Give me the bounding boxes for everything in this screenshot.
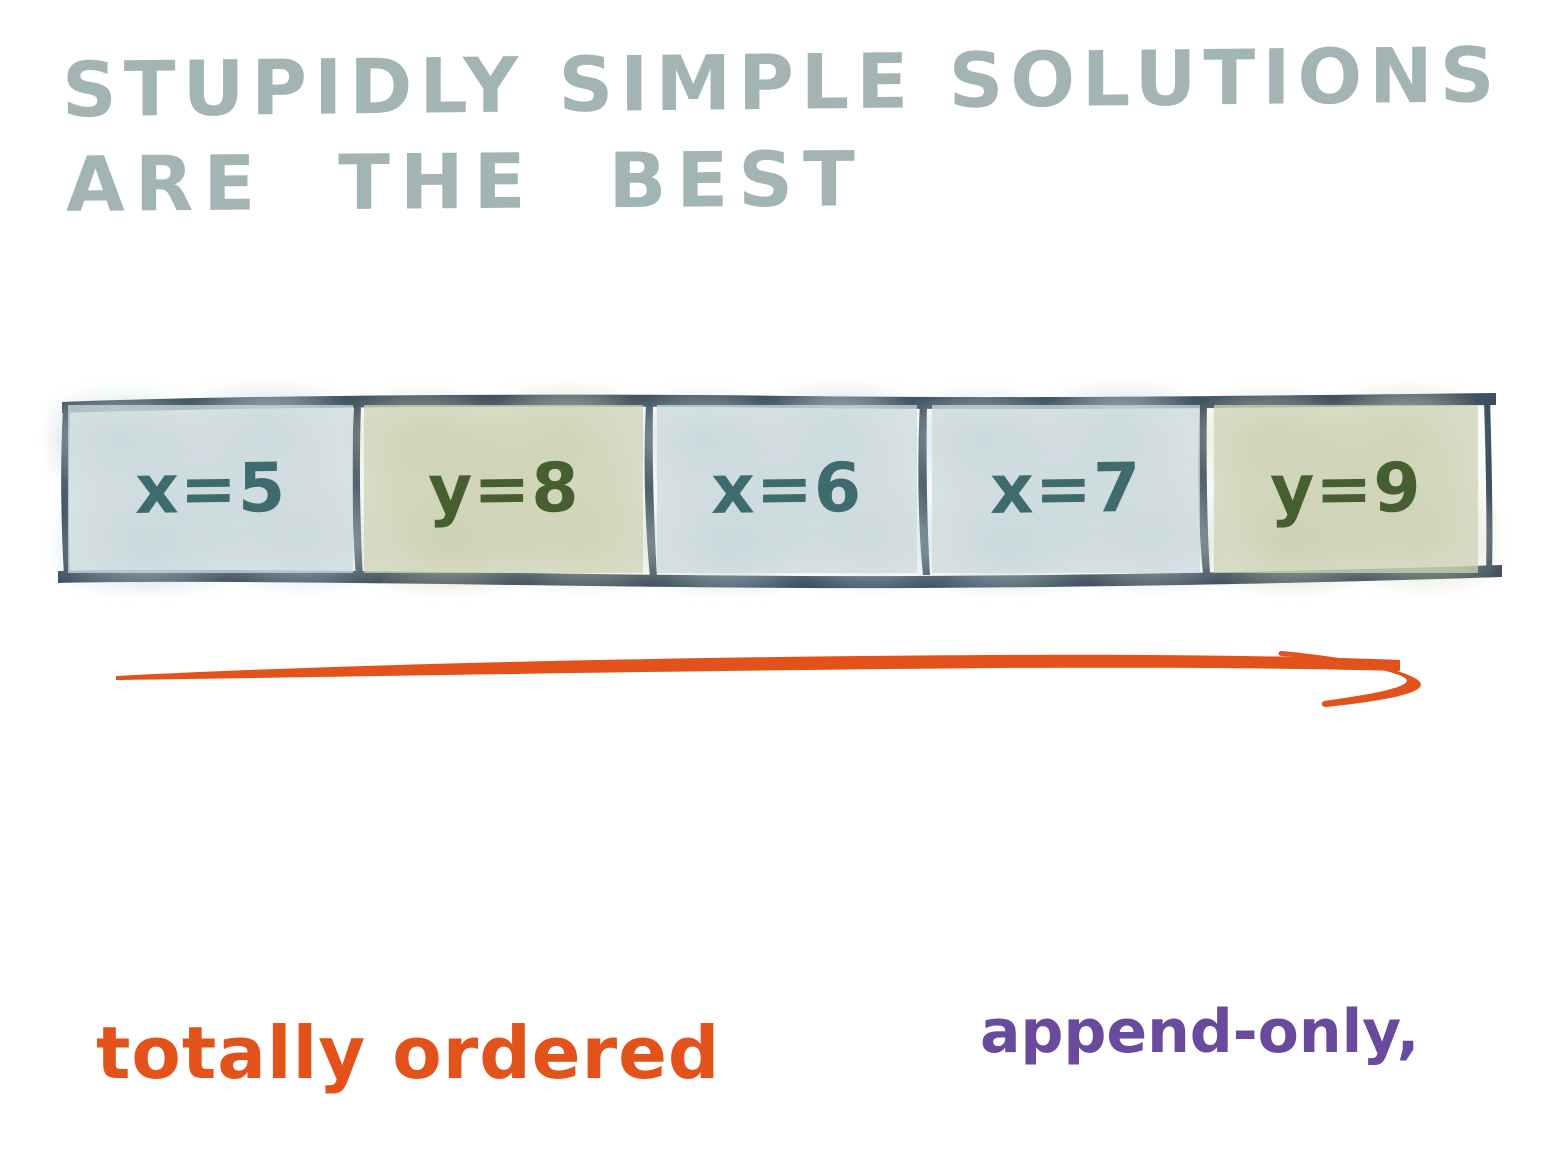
log-cell-label: y=8	[428, 448, 580, 529]
event-log-cells: x=5 y=8 x=6 x=7 y=9	[40, 375, 1520, 600]
title-line-1: STUPIDLY SIMPLE SOLUTIONS	[62, 27, 1462, 139]
log-cell[interactable]: y=9	[1210, 403, 1482, 575]
title-line-2: ARE THE BEST	[66, 126, 1466, 233]
log-cell[interactable]: y=8	[360, 403, 647, 575]
slide-canvas: STUPIDLY SIMPLE SOLUTIONS ARE THE BEST x…	[0, 0, 1565, 1174]
event-log-container: x=5 y=8 x=6 x=7 y=9	[40, 375, 1520, 600]
direction-of-time-arrow	[100, 620, 1460, 730]
caption-append-only-persistent: append-only, persistent	[980, 820, 1419, 1174]
log-cell[interactable]: x=7	[928, 403, 1204, 575]
log-cell[interactable]: x=6	[653, 403, 921, 575]
log-cell[interactable]: x=5	[64, 403, 357, 575]
arrow-shaft	[116, 655, 1400, 680]
caption-totally-ordered-sequence: totally ordered sequence	[96, 798, 720, 1174]
page-title: STUPIDLY SIMPLE SOLUTIONS ARE THE BEST	[62, 34, 1462, 244]
log-cell-label: x=7	[990, 448, 1141, 529]
log-cell-label: x=6	[711, 448, 862, 529]
caption-left-line-1: totally ordered	[96, 1002, 720, 1104]
arrow-svg	[100, 620, 1460, 730]
log-cell-label: x=5	[135, 448, 286, 529]
log-cell-label: y=9	[1270, 448, 1422, 529]
caption-right-line-1: append-only,	[980, 990, 1419, 1075]
